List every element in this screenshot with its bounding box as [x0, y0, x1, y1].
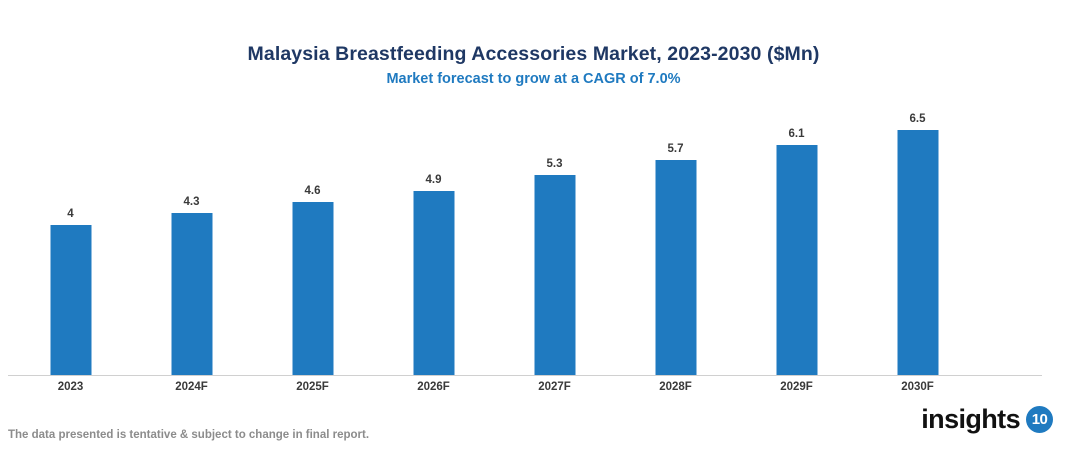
- bar-group: 4: [10, 96, 131, 376]
- x-axis-tick-label: 2029F: [736, 381, 857, 393]
- bar-value-label: 5.7: [668, 143, 684, 155]
- x-axis-tick-label: 2028F: [615, 381, 736, 393]
- x-axis-tick-label: 2025F: [252, 381, 373, 393]
- bar-value-label: 4.9: [426, 174, 442, 186]
- logo-wordmark: insights: [921, 406, 1020, 433]
- bar-group: 4.9: [373, 96, 494, 376]
- x-axis-tick-label: 2027F: [494, 381, 615, 393]
- bar-value-label: 5.3: [547, 158, 563, 170]
- bar[interactable]: [534, 175, 575, 376]
- bar-group: 5.7: [615, 96, 736, 376]
- chart-canvas: Malaysia Breastfeeding Accessories Marke…: [0, 0, 1067, 454]
- bar-value-label: 4.6: [305, 185, 321, 197]
- x-axis-tick-label: 2024F: [131, 381, 252, 393]
- bar[interactable]: [776, 145, 817, 376]
- bar-group: 6.1: [736, 96, 857, 376]
- chart-title: Malaysia Breastfeeding Accessories Marke…: [0, 43, 1067, 66]
- bar-group: 4.3: [131, 96, 252, 376]
- x-axis-line: [8, 375, 1042, 376]
- bar-value-label: 4.3: [184, 196, 200, 208]
- logo-badge-icon: 10: [1026, 406, 1053, 433]
- bar[interactable]: [292, 202, 333, 376]
- bar-value-label: 4: [67, 208, 73, 220]
- bar-value-label: 6.1: [789, 128, 805, 140]
- bar-group: 4.6: [252, 96, 373, 376]
- bar[interactable]: [655, 160, 696, 376]
- x-axis-tick-label: 2026F: [373, 381, 494, 393]
- insights10-logo: insights 10: [921, 406, 1053, 433]
- bar-value-label: 6.5: [910, 113, 926, 125]
- disclaimer-text: The data presented is tentative & subjec…: [8, 429, 369, 441]
- bar[interactable]: [171, 213, 212, 376]
- bar-group: 6.5: [857, 96, 978, 376]
- bar[interactable]: [897, 130, 938, 376]
- x-axis-tick-label: 2030F: [857, 381, 978, 393]
- chart-subtitle: Market forecast to grow at a CAGR of 7.0…: [0, 71, 1067, 87]
- bar-group: 5.3: [494, 96, 615, 376]
- plot-area: 44.34.64.95.35.76.16.5: [0, 96, 1067, 376]
- bar[interactable]: [413, 191, 454, 376]
- x-axis-tick-label: 2023: [10, 381, 131, 393]
- bar[interactable]: [50, 225, 91, 376]
